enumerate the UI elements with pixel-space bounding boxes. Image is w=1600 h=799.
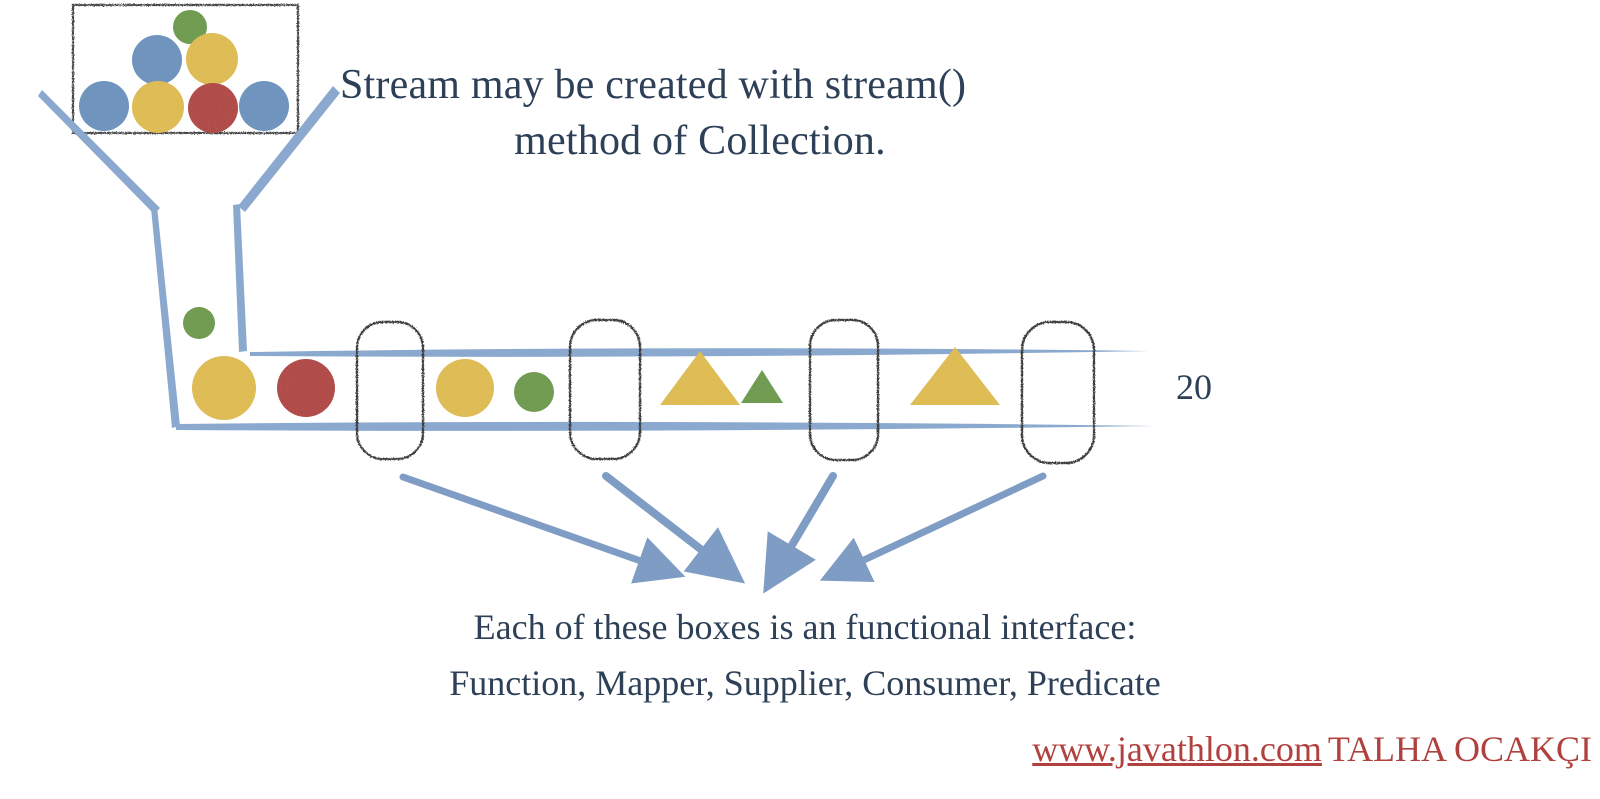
arrow-box-3 — [782, 476, 833, 562]
functional-interface-box-3 — [810, 320, 878, 460]
blue-circle-bottom-1 — [79, 81, 129, 131]
title-line-2: method of Collection. — [340, 114, 1060, 170]
functional-interface-box-1 — [357, 322, 423, 459]
slide-number: 20 — [1176, 366, 1212, 408]
javathlon-link[interactable]: www.javathlon.com — [1032, 729, 1322, 769]
source-collection-box — [73, 5, 298, 133]
arrow-box-2 — [606, 476, 716, 561]
yellow-triangle-2 — [910, 347, 1000, 405]
title-line-1: Stream may be created with stream() — [340, 58, 1060, 114]
functional-interface-boxes — [357, 320, 1094, 463]
slide-caption: Each of these boxes is an functional int… — [300, 600, 1310, 712]
red-circle-bottom — [188, 83, 238, 133]
yellow-circle-1 — [192, 356, 256, 420]
green-circle-1 — [514, 372, 554, 412]
green-circle-top — [173, 10, 207, 44]
yellow-circle-2 — [436, 359, 494, 417]
slide-footer: www.javathlon.comTALHA OCAKÇI — [0, 728, 1600, 770]
pipeline-rails — [176, 348, 1156, 431]
arrow-box-4 — [849, 476, 1043, 567]
author-name: TALHA OCAKÇI — [1328, 729, 1592, 769]
yellow-circle-bottom — [132, 81, 184, 133]
red-circle-1 — [277, 359, 335, 417]
caption-line-2: Function, Mapper, Supplier, Consumer, Pr… — [300, 656, 1310, 712]
slide-title: Stream may be created with stream() meth… — [340, 58, 1060, 170]
blue-circle-bottom-2 — [239, 81, 289, 131]
stream-funnel — [38, 86, 340, 428]
source-collection-items — [79, 10, 289, 133]
pipeline-elements — [183, 307, 1000, 420]
yellow-circle-mid-right — [186, 33, 238, 85]
yellow-triangle-1 — [660, 351, 740, 405]
blue-circle-mid-left — [132, 35, 182, 85]
green-circle-outside — [183, 307, 215, 339]
green-triangle-1 — [741, 370, 783, 403]
arrow-box-1 — [403, 477, 655, 566]
callout-arrows — [403, 476, 1043, 567]
slide-canvas: Stream may be created with stream() meth… — [0, 0, 1600, 799]
functional-interface-box-2 — [570, 320, 640, 459]
functional-interface-box-4 — [1022, 322, 1094, 463]
caption-line-1: Each of these boxes is an functional int… — [300, 600, 1310, 656]
